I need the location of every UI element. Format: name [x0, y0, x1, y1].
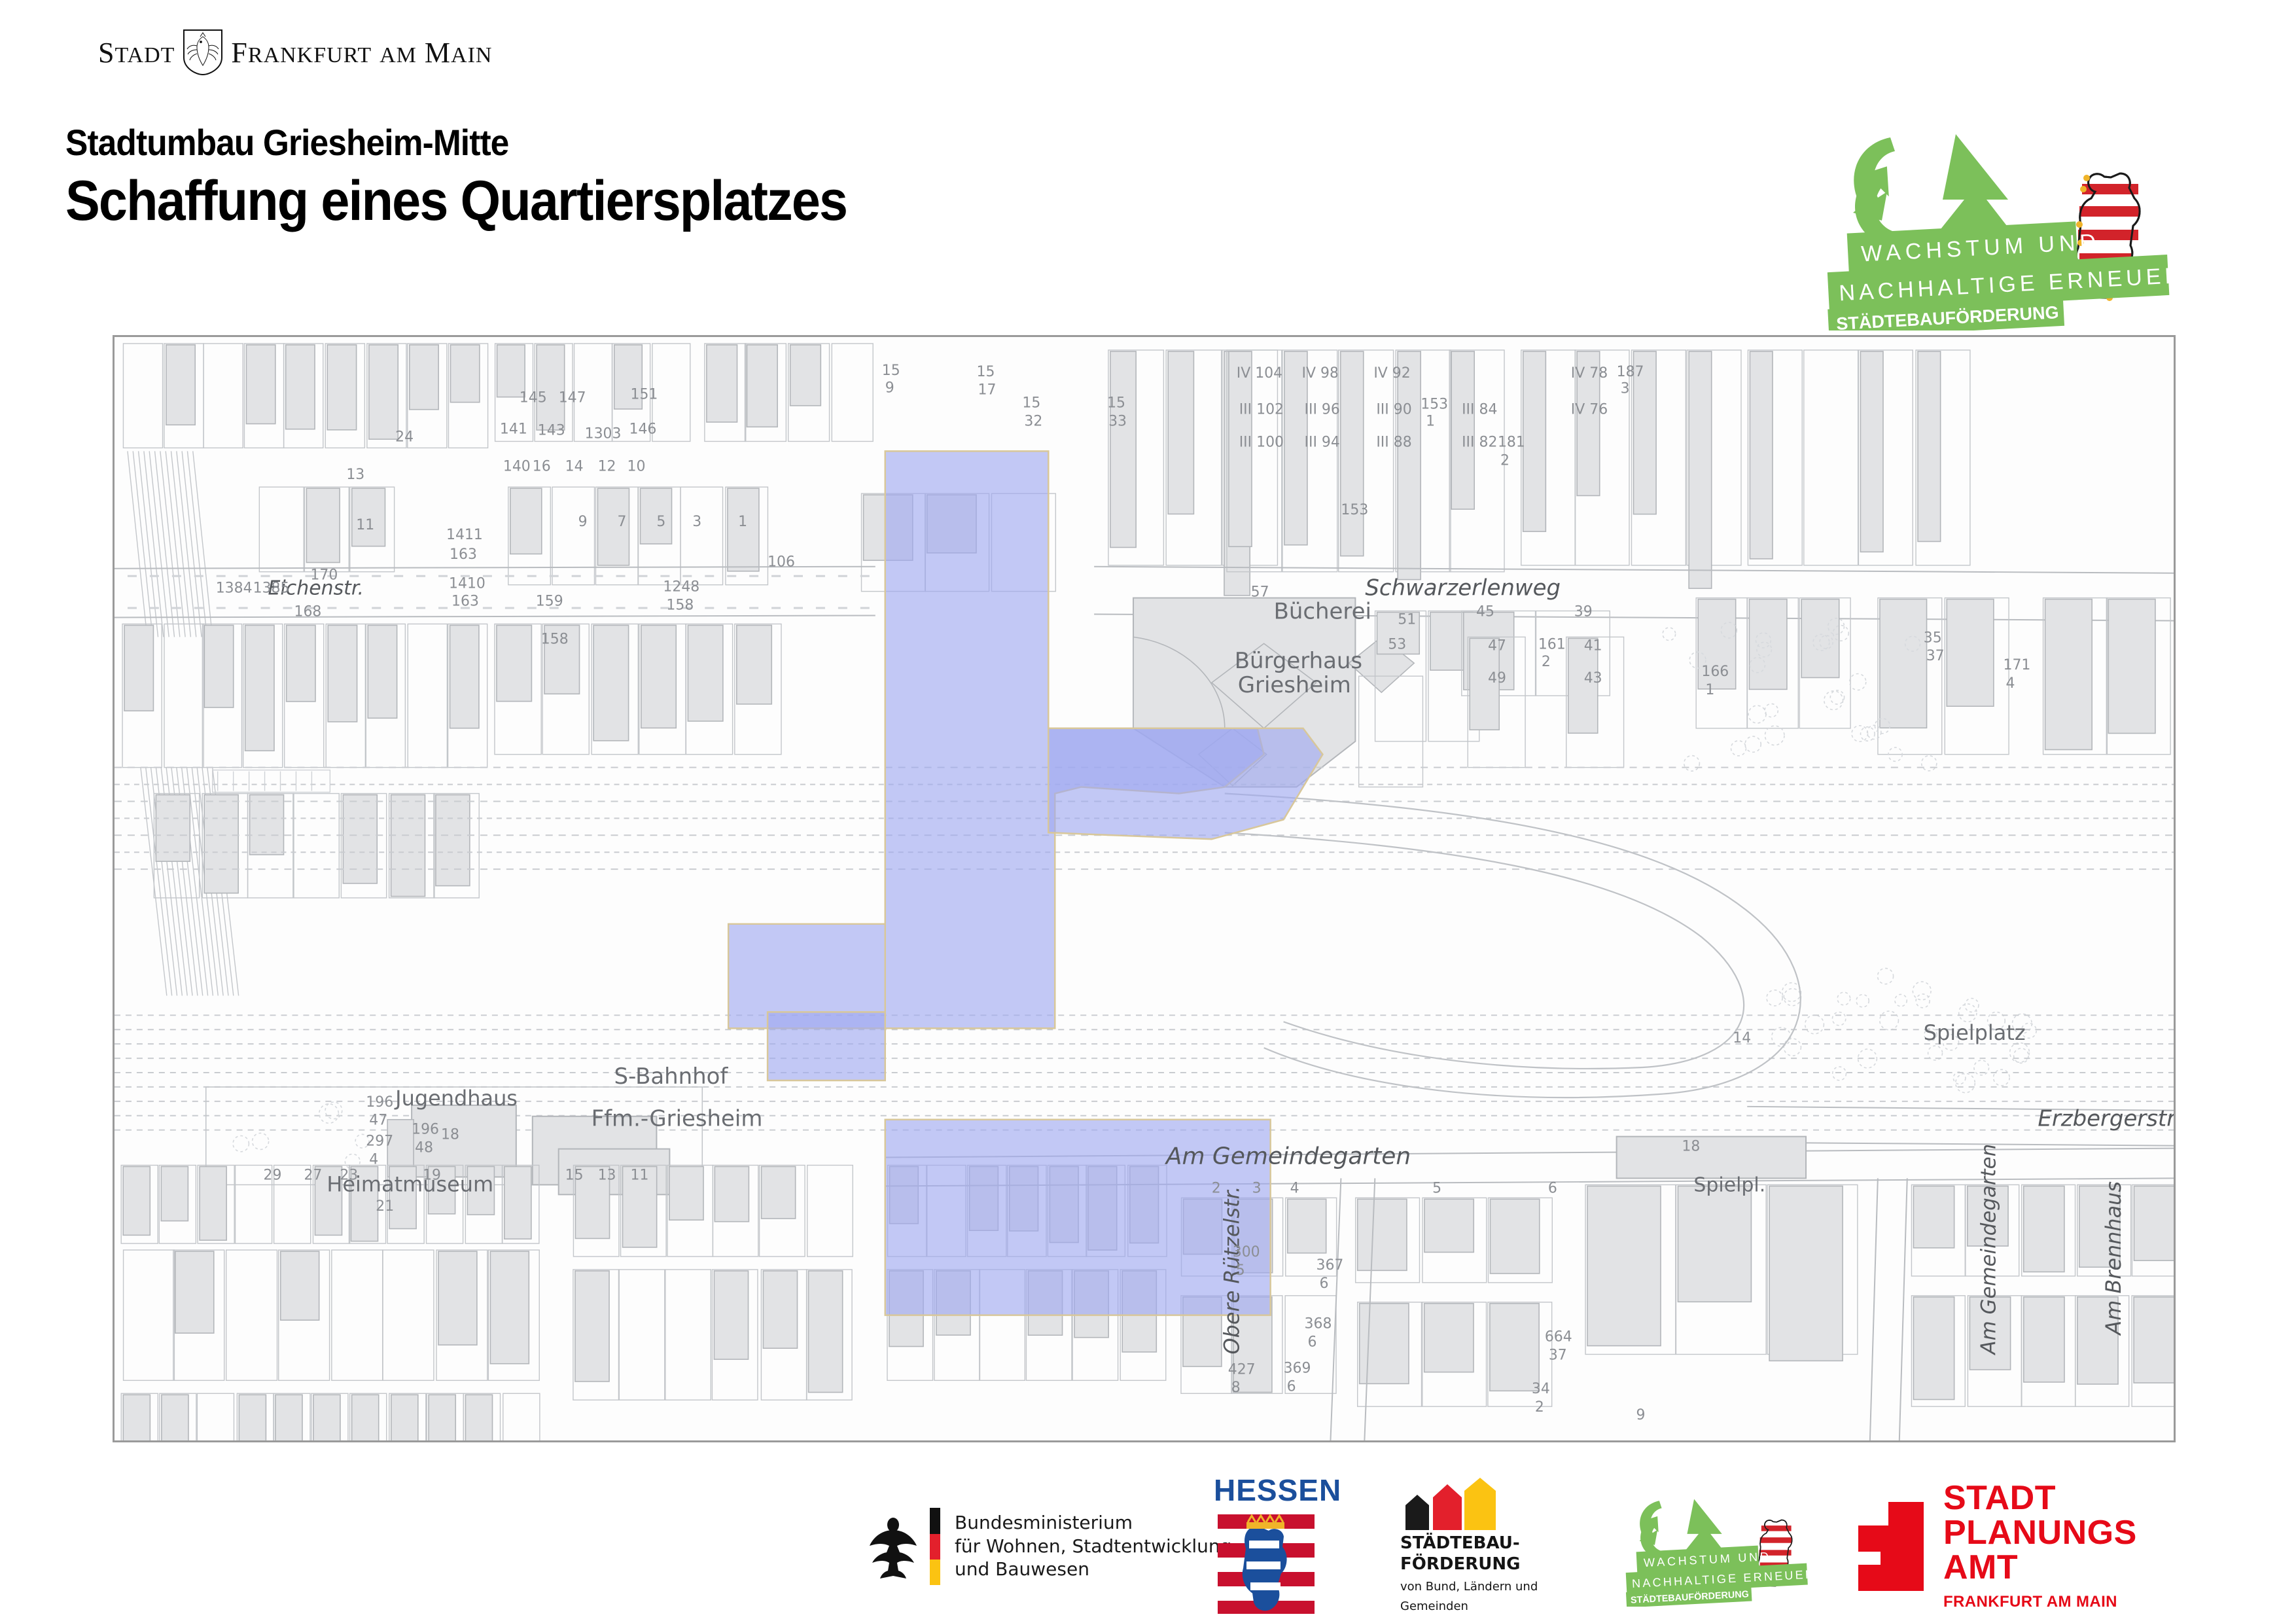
- parcel-number: 39: [1574, 603, 1593, 620]
- parcel-number: 5: [656, 514, 665, 530]
- cadastral-map[interactable]: Eichenstr.SchwarzerlenwegAm Gemeindegart…: [113, 335, 2176, 1442]
- parcel-number: III 102: [1239, 402, 1284, 418]
- parcel-number: 367: [1316, 1257, 1343, 1274]
- parcel-number: 159: [536, 594, 563, 610]
- street-label: Am Gemeindegarten: [1165, 1143, 1411, 1170]
- bmwsb-label: Bundesministerium für Wohnen, Stadtentwi…: [955, 1511, 1231, 1581]
- bundesadler-icon: [867, 1510, 919, 1582]
- staedtebau-title-1: STÄDTEBAU-: [1400, 1533, 1538, 1554]
- place-label: Griesheim: [1238, 672, 1351, 698]
- parcel-number: 47: [1488, 637, 1506, 654]
- place-label: Bücherei: [1274, 598, 1371, 624]
- parcel-number: 1: [1705, 682, 1714, 698]
- parcel-number: 1385: [253, 580, 290, 597]
- parcel-number: 170: [310, 567, 338, 584]
- parcel-number: 6: [1319, 1275, 1328, 1292]
- city-logo-text-right: FRANKFURT AM MAIN: [231, 36, 492, 69]
- wachstum-und-nachhaltige-erneuerung-logo: WACHSTUM UND NACHHALTIGE ERNEUERUNG STÄD…: [1822, 115, 2227, 330]
- parcel-number: 1: [738, 514, 747, 530]
- stadtplanungsamt-mark-icon: [1858, 1502, 1924, 1591]
- parcel-number: 153: [1341, 502, 1368, 518]
- parcel-number: 168: [294, 603, 321, 620]
- parcel-number: III 82: [1462, 434, 1497, 450]
- hessen-crest-icon: [1214, 1512, 1318, 1616]
- parcel-number: 196: [366, 1094, 393, 1111]
- bmwsb-logo: Bundesministerium für Wohnen, Stadtentwi…: [867, 1469, 1231, 1623]
- parcel-number: 32: [1024, 414, 1042, 430]
- parcel-number: IV 104: [1237, 365, 1282, 382]
- stadtplanungsamt-logo: STADT PLANUNGS AMT FRANKFURT AM MAIN: [1858, 1469, 2137, 1623]
- parcel-number: 427: [1228, 1361, 1256, 1378]
- parcel-number: 18: [441, 1127, 459, 1143]
- parcel-number: 146: [629, 421, 657, 437]
- place-label: S-Bahnhof: [614, 1063, 729, 1089]
- parcel-number: 151: [630, 387, 658, 403]
- parcel-number: 141: [500, 421, 527, 437]
- parcel-number: 24: [395, 429, 414, 445]
- parcel-number: 10: [627, 458, 646, 474]
- parcel-number: 153: [1421, 397, 1448, 413]
- parcel-number: 2: [1500, 452, 1510, 469]
- parcel-number: 7: [618, 514, 627, 530]
- parcel-number: 51: [1398, 611, 1416, 628]
- spa-line-1: STADT: [1943, 1481, 2137, 1516]
- highlight-area-3: [768, 1012, 885, 1080]
- street-label: Schwarzerlenweg: [1365, 575, 1561, 601]
- parcel-number: 16: [533, 458, 551, 474]
- place-label: Jugendhaus: [394, 1086, 518, 1111]
- parcel-number: 27: [304, 1167, 322, 1183]
- parcel-number: III 84: [1462, 402, 1497, 418]
- parcel-number: 35: [1924, 630, 1942, 646]
- parcel-number: 106: [768, 554, 795, 571]
- hessen-logo: HESSEN: [1214, 1469, 1341, 1623]
- place-label: Ffm.-Griesheim: [592, 1106, 763, 1132]
- parcel-number: IV 92: [1373, 365, 1410, 382]
- parcel-number: 6: [1548, 1180, 1557, 1196]
- parcel-number: 49: [1488, 670, 1506, 687]
- parcel-number: 37: [1549, 1347, 1567, 1363]
- parcel-number: 143: [538, 422, 565, 438]
- parcel-number: 14: [1733, 1030, 1751, 1046]
- parcel-number: 2: [1212, 1180, 1221, 1196]
- parcel-number: 300: [1233, 1244, 1260, 1260]
- parcel-number: 18: [1682, 1139, 1700, 1155]
- parcel-number: 3: [1252, 1180, 1262, 1196]
- staedtebau-title-2: FÖRDERUNG: [1400, 1554, 1538, 1575]
- parcel-number: 163: [451, 594, 479, 610]
- parcel-number: III 88: [1376, 434, 1411, 450]
- parcel-number: III 100: [1239, 434, 1284, 450]
- parcel-number: 3: [1621, 381, 1630, 397]
- parcel-number: 47: [369, 1113, 387, 1129]
- parcel-number: 664: [1545, 1329, 1572, 1346]
- parcel-number: 158: [666, 597, 694, 614]
- spa-line-2: PLANUNGS: [1943, 1516, 2137, 1550]
- parcel-number: 1410: [449, 576, 486, 592]
- parcel-number: III 94: [1305, 434, 1340, 450]
- parcel-number: 5: [1432, 1180, 1441, 1196]
- parcel-number: III 96: [1305, 402, 1340, 418]
- parcel-number: 171: [2003, 657, 2030, 673]
- parcel-number: 57: [1251, 584, 1269, 601]
- parcel-number: IV 98: [1302, 365, 1339, 382]
- parcel-number: 19: [423, 1167, 441, 1183]
- parcel-number: 145: [520, 390, 547, 406]
- parcel-number: 8: [1231, 1380, 1241, 1396]
- parcel-number: 34: [1532, 1381, 1550, 1397]
- parcel-number: 53: [1388, 636, 1406, 652]
- city-of-frankfurt-logo: STADT FRANKFURT AM MAIN: [98, 29, 492, 75]
- parcel-number: 15: [1022, 395, 1040, 412]
- parcel-number: 187: [1617, 364, 1644, 380]
- parcel-number: 147: [559, 390, 586, 406]
- parcel-number: 369: [1284, 1360, 1311, 1376]
- parcel-number: IV 78: [1571, 365, 1608, 382]
- title-block: Stadtumbau Griesheim-Mitte Schaffung ein…: [65, 121, 915, 234]
- wachstum-logo-footer: WACHSTUM UND NACHHALTIGE ERNEUERUNG STÄD…: [1623, 1469, 1839, 1623]
- parcel-number: 15: [976, 364, 995, 380]
- parcel-number: 196: [412, 1122, 439, 1138]
- parcel-number: 9: [885, 380, 894, 397]
- wachstum-logo-footer-icon: WACHSTUM UND NACHHALTIGE ERNEUERUNG STÄD…: [1623, 1486, 1839, 1607]
- spa-line-3: AMT: [1943, 1550, 2137, 1585]
- parcel-number: 2: [1535, 1399, 1544, 1416]
- parcel-number: 1384: [216, 580, 253, 597]
- parcel-number: 3: [692, 514, 701, 530]
- place-label: Spielpl.: [1693, 1173, 1765, 1196]
- staedtebaufoerderung-logo: STÄDTEBAU- FÖRDERUNG von Bund, Ländern u…: [1400, 1469, 1538, 1623]
- parcel-number: 15: [565, 1167, 584, 1183]
- spa-sub: FRANKFURT AM MAIN: [1943, 1593, 2137, 1611]
- parcel-number: 23: [340, 1167, 358, 1183]
- page-subtitle: Stadtumbau Griesheim-Mitte: [65, 121, 847, 164]
- parcel-number: 41: [1584, 637, 1602, 654]
- parcel-number: 9: [578, 514, 588, 530]
- parcel-number: 1411: [446, 527, 483, 543]
- parcel-number: 5: [1236, 1262, 1245, 1279]
- parcel-number: 297: [366, 1133, 393, 1150]
- place-label: Bürgerhaus: [1235, 648, 1362, 673]
- parcel-number: 1248: [663, 579, 699, 596]
- parcel-number: IV 76: [1571, 402, 1608, 418]
- map-canvas: Eichenstr.SchwarzerlenwegAm Gemeindegart…: [115, 337, 2174, 1440]
- parcel-number: 13: [598, 1167, 616, 1183]
- parcel-number: 45: [1476, 603, 1494, 620]
- parcel-number: 181: [1498, 434, 1525, 450]
- parcel-number: 21: [376, 1198, 394, 1215]
- parcel-number: 140: [503, 458, 531, 474]
- funding-logo-strip: Bundesministerium für Wohnen, Stadtentwi…: [0, 1469, 2296, 1623]
- parcel-number: 15: [1107, 395, 1125, 412]
- staedtebau-sub-2: Gemeinden: [1400, 1599, 1538, 1614]
- page-title: Schaffung eines Quartiersplatzes: [65, 169, 847, 234]
- parcel-number: 11: [630, 1167, 648, 1183]
- parcel-number: 2: [1542, 654, 1551, 670]
- parcel-number: 11: [356, 517, 374, 533]
- parcel-number: 15: [882, 363, 900, 379]
- parcel-number: 14: [565, 458, 584, 474]
- parcel-number: 368: [1305, 1316, 1332, 1332]
- parcel-number: 4: [1290, 1180, 1299, 1196]
- parcel-number: 1: [1426, 414, 1435, 430]
- parcel-number: III 90: [1376, 402, 1411, 418]
- frankfurt-eagle-crest-icon: [183, 29, 223, 76]
- parcel-number: 161: [1538, 636, 1566, 652]
- parcel-number: 166: [1701, 664, 1729, 680]
- parcel-number: 48: [415, 1140, 433, 1156]
- street-label: Am Gemeindegarten: [1977, 1144, 2000, 1356]
- german-flag-bar-icon: [930, 1508, 940, 1585]
- parcel-number: 158: [541, 631, 569, 647]
- parcel-number: 9: [1636, 1407, 1646, 1423]
- street-label: Am Brennhaus: [2101, 1181, 2126, 1336]
- parcel-number: 1303: [585, 425, 622, 442]
- city-logo-text-left: STADT: [98, 36, 175, 69]
- hessen-wordmark: HESSEN: [1214, 1472, 1341, 1508]
- parcel-number: 163: [450, 546, 477, 563]
- parcel-number: 37: [1926, 648, 1945, 664]
- parcel-number: 12: [598, 458, 616, 474]
- parcel-number: 17: [978, 382, 996, 399]
- parcel-number: 4: [2005, 675, 2015, 692]
- three-houses-icon: [1400, 1478, 1498, 1530]
- parcel-number: 43: [1584, 670, 1602, 687]
- place-label: Spielplatz: [1924, 1020, 2026, 1045]
- street-label: Erzbergerstr.: [2038, 1106, 2174, 1132]
- parcel-number: 6: [1308, 1334, 1317, 1351]
- parcel-number: 33: [1108, 414, 1127, 430]
- parcel-number: 4: [369, 1152, 378, 1168]
- parcel-number: 29: [264, 1167, 282, 1183]
- parcel-number: 6: [1287, 1378, 1296, 1395]
- parcel-number: 13: [346, 467, 364, 483]
- staedtebau-sub-1: von Bund, Ländern und: [1400, 1580, 1538, 1595]
